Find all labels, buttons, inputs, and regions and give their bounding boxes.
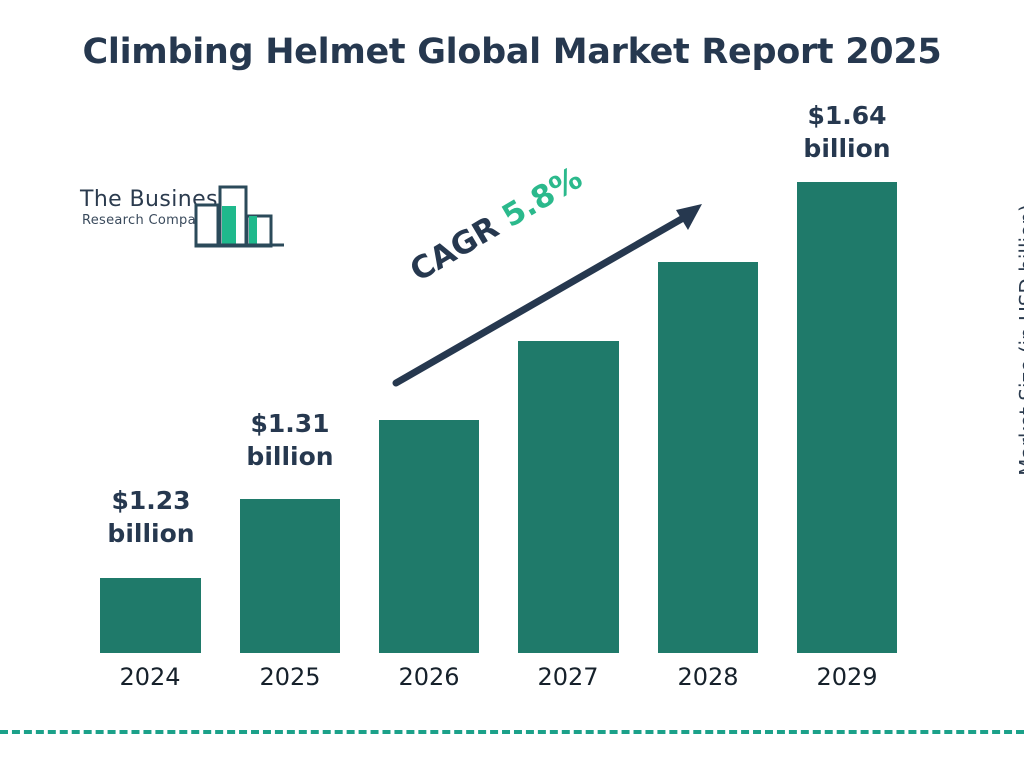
bar-2029[interactable]: [797, 182, 897, 653]
x-tick-2028: 2028: [648, 663, 768, 691]
bar-2028[interactable]: [658, 262, 758, 653]
bar-value-2024: $1.23 billion: [90, 485, 212, 550]
x-tick-2027: 2027: [508, 663, 628, 691]
cagr-label-text: CAGR: [404, 209, 505, 289]
x-tick-2024: 2024: [90, 663, 210, 691]
bar-chart-plot: $1.23 billion $1.31 billion $1.64 billio…: [0, 0, 1024, 768]
bar-2027[interactable]: [518, 341, 619, 653]
x-tick-2029: 2029: [787, 663, 907, 691]
x-tick-2025: 2025: [230, 663, 350, 691]
x-tick-2026: 2026: [369, 663, 489, 691]
bar-value-2025: $1.31 billion: [229, 408, 351, 473]
cagr-value-text: 5.8%: [496, 160, 588, 235]
bottom-divider: [0, 730, 1024, 734]
bar-2025[interactable]: [240, 499, 340, 653]
bar-2026[interactable]: [379, 420, 479, 653]
bar-2024[interactable]: [100, 578, 201, 653]
y-axis-title: Market Size (in USD billion): [1015, 175, 1024, 505]
bar-value-2029: $1.64 billion: [786, 100, 908, 165]
chart-page: Climbing Helmet Global Market Report 202…: [0, 0, 1024, 768]
cagr-annotation: CAGR 5.8%: [404, 160, 588, 289]
